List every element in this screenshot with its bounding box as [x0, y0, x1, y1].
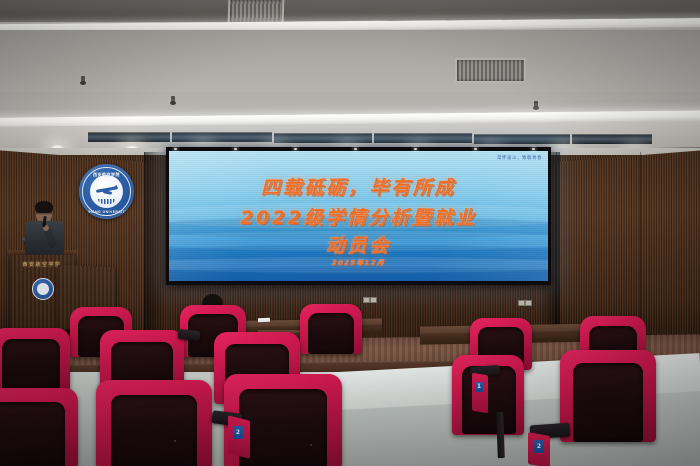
- wall-outlet-4: [525, 300, 532, 306]
- ceiling-slot-3: [274, 133, 372, 143]
- screen-wave-6: [169, 267, 548, 281]
- screen-headline-line2: 2022级学情分析暨就业: [169, 203, 548, 230]
- bezel-reflection-3: [294, 148, 297, 150]
- desk-paper-1: [258, 318, 270, 322]
- seal-gear-arc: [98, 199, 115, 204]
- wall-outlet-3: [518, 300, 525, 306]
- seat-row3-col3[interactable]: [300, 304, 362, 354]
- screen-date: 2025年12月: [169, 258, 548, 268]
- university-seal-wall: 西安航空学院 XIHANG UNIVERSITY: [79, 164, 134, 219]
- wall-outlet-1: [363, 297, 370, 303]
- seat-row2-col0[interactable]: [0, 328, 70, 394]
- ceiling-slot-5: [474, 134, 570, 144]
- bezel-reflection-2: [234, 148, 237, 150]
- ceiling-slot-4: [374, 133, 472, 143]
- speaker-hair: [35, 201, 53, 213]
- wall-outlet-2: [370, 297, 377, 303]
- seat-inner-panel: [573, 363, 643, 442]
- seat-inner-panel: [0, 402, 65, 466]
- led-screen-bezel: 常怀奋斗，致敬青春 四载砥砺，毕有所成 2022级学情分析暨就业 动员会 202…: [166, 147, 551, 285]
- armrest-row3-mid: [178, 329, 201, 341]
- sprinkler-head-2: [534, 101, 538, 109]
- ceiling-soffit: [0, 30, 700, 92]
- sprinkler-head-3: [81, 76, 85, 84]
- ceiling-slot-1: [88, 132, 170, 142]
- seat-screw: [310, 444, 312, 446]
- speaker-at-podium: [18, 198, 78, 258]
- screen-corner-note: 常怀奋斗，致敬青春: [497, 155, 542, 161]
- bezel-reflection-1: [174, 148, 177, 150]
- bezel-reflection-7: [532, 148, 535, 150]
- seat-inner-panel: [239, 389, 327, 466]
- podium-seal-inner: [37, 283, 49, 295]
- armrest-side-panel-rightrow2: [472, 373, 488, 414]
- auditorium-photo: 西安航空学院 XIHANG UNIVERSITY 常怀奋斗，致敬青春 四载砥砺，…: [0, 0, 700, 466]
- seat-inner-panel: [111, 395, 197, 466]
- podium-seal: [32, 278, 54, 300]
- ceiling-slot-6: [572, 134, 652, 144]
- seal-en-name: XIHANG UNIVERSITY: [79, 210, 134, 214]
- seat-number-plate-row1: 2: [233, 426, 243, 439]
- seat-number-plate-right1: 1: [475, 382, 483, 392]
- bezel-reflection-5: [414, 148, 417, 150]
- seat-row1-col0[interactable]: [0, 388, 78, 466]
- seat-screw: [174, 440, 176, 442]
- bezel-reflection-6: [474, 148, 477, 150]
- screen-headline-line3: 动员会: [169, 231, 548, 258]
- seal-cn-name: 西安航空学院: [79, 172, 134, 178]
- led-screen: 常怀奋斗，致敬青春 四载砥砺，毕有所成 2022级学情分析暨就业 动员会 202…: [169, 151, 548, 281]
- seat-inner-panel: [2, 339, 60, 394]
- seat-inner-panel: [462, 366, 516, 434]
- hvac-vent-lower: [455, 58, 526, 83]
- sprinkler-head-1: [171, 96, 175, 104]
- corner-shadow-left: [144, 152, 166, 348]
- seat-inner-panel: [308, 313, 354, 354]
- ceiling-slot-2: [172, 132, 272, 142]
- seat-rightrow2-col2[interactable]: [560, 350, 656, 442]
- seat-number-plate-right2: 2: [534, 440, 544, 453]
- bezel-reflection-4: [354, 148, 357, 150]
- seat-row1-col1[interactable]: [96, 380, 212, 466]
- screen-headline-line1: 四载砥砺，毕有所成: [169, 173, 548, 200]
- hvac-vent-upper: [228, 0, 285, 24]
